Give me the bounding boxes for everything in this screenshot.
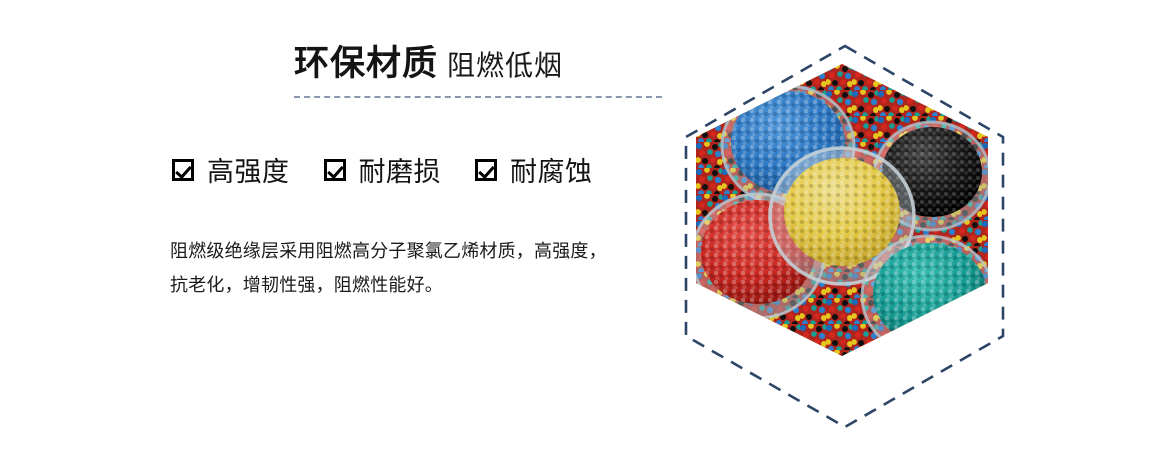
feature-label: 耐腐蚀 [510,150,593,189]
feature-item-1: 耐磨损 [324,150,442,189]
description-line-2: 抗老化，增韧性强，阻燃性能好。 [170,268,670,302]
feature-list: 高强度 耐磨损 耐腐蚀 [172,150,593,189]
title-main: 环保材质 [294,44,438,83]
description-text: 阻燃级绝缘层采用阻燃高分子聚氯乙烯材质，高强度， 抗老化，增韧性强，阻燃性能好。 [170,234,670,302]
product-feature-banner: 环保材质阻燃低烟 高强度 耐磨损 耐腐蚀 阻燃级绝缘层采用阻燃高分子聚氯乙烯材质… [0,0,1169,452]
title-sub: 阻燃低烟 [447,50,563,81]
checked-box-icon [324,159,346,181]
page-title: 环保材质阻燃低烟 [294,46,664,81]
feature-label: 耐磨损 [359,150,442,189]
title-divider [294,96,662,98]
title-line: 环保材质阻燃低烟 [294,46,664,81]
feature-item-0: 高强度 [172,150,290,189]
checked-box-icon [475,159,497,181]
checked-box-icon [172,159,194,181]
feature-item-2: 耐腐蚀 [475,150,593,189]
text-column: 环保材质阻燃低烟 高强度 耐磨损 耐腐蚀 阻燃级绝缘层采用阻燃高分子聚氯乙烯材质… [0,0,690,452]
feature-label: 高强度 [207,150,290,189]
description-line-1: 阻燃级绝缘层采用阻燃高分子聚氯乙烯材质，高强度， [170,234,670,268]
hexagon-image-panel [669,0,1069,452]
